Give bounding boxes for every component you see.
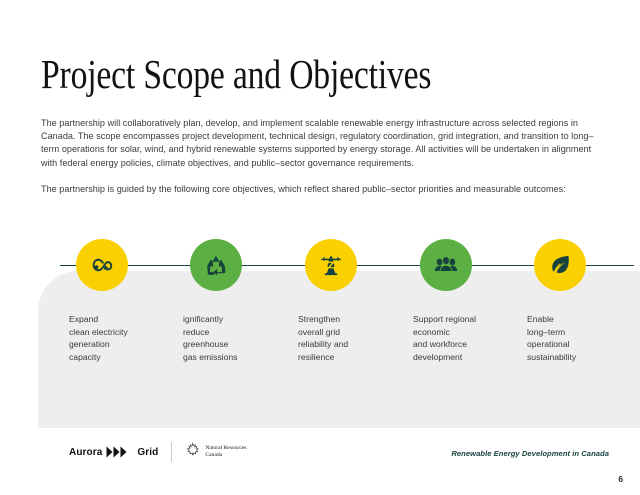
page-title: Project Scope and Objectives	[41, 52, 431, 96]
intro-text-block: The partnership will collaboratively pla…	[41, 117, 609, 196]
power-pylon-icon	[318, 252, 344, 278]
maple-leaf-icon	[185, 442, 200, 462]
objective-caption-4: Support regional economic and workforce …	[413, 313, 517, 363]
aurora-grid-logo: Aurora Grid	[69, 446, 158, 458]
objective-caption-1: Expand clean electricity generation capa…	[69, 313, 173, 363]
objective-icon-circle-5[interactable]	[534, 239, 586, 291]
leaf-icon	[547, 252, 573, 278]
recycle-icon	[203, 252, 229, 278]
footer-logo-divider	[171, 442, 172, 462]
slide-root: Project Scope and Objectives The partner…	[0, 0, 640, 495]
objective-caption-2: ignificantly reduce greenhouse gas emiss…	[183, 313, 287, 363]
objective-caption-5: Enable long–term operational sustainabil…	[527, 313, 631, 363]
objective-icon-circle-1[interactable]	[76, 239, 128, 291]
nrcan-logo-text: Natural Resources Canada	[205, 445, 246, 459]
aurora-logo-text-right: Grid	[137, 447, 158, 458]
energy-loop-icon	[89, 252, 115, 278]
aurora-logo-text-left: Aurora	[69, 447, 102, 458]
page-number: 6	[618, 474, 623, 484]
people-group-icon	[433, 252, 459, 278]
objective-icon-circle-2[interactable]	[190, 239, 242, 291]
footer-logo-group: Aurora Grid Natural Resources Canada	[69, 441, 247, 463]
objective-caption-3: Strengthen overall grid reliability and …	[298, 313, 402, 363]
objective-icon-circle-4[interactable]	[420, 239, 472, 291]
paragraph-objectives-lead: The partnership is guided by the followi…	[41, 183, 609, 196]
natural-resources-canada-logo: Natural Resources Canada	[185, 442, 246, 462]
paragraph-scope: The partnership will collaboratively pla…	[41, 117, 609, 170]
chevron-triple-icon	[106, 446, 133, 458]
objective-icon-circle-3[interactable]	[305, 239, 357, 291]
footer-tagline: Renewable Energy Development in Canada	[451, 449, 609, 458]
